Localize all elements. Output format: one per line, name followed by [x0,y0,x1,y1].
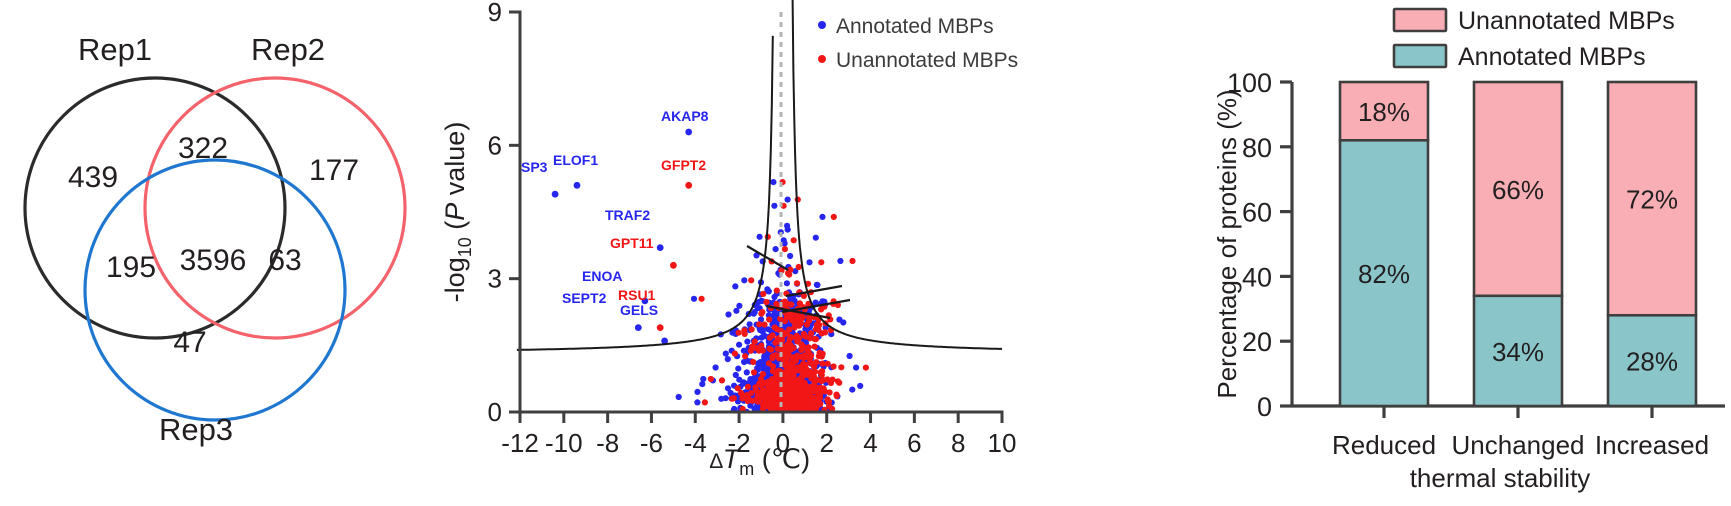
scatter-point-unannotated [798,347,804,353]
bar-legend-swatch-unannotated [1394,9,1446,31]
scatter-point-unannotated [849,258,855,264]
scatter-point-unannotated [742,353,748,359]
bar-value-unannotated-unchanged: 66% [1492,175,1544,205]
legend-label-unannotated: Unannotated MBPs [836,49,1018,72]
scatter-point-unannotated [786,327,792,333]
scatter-point-annotated [785,227,791,233]
bar-category-reduced: Reduced [1332,430,1436,460]
volcano-xtick--8: -8 [596,428,619,458]
scatter-point-unannotated [770,332,776,338]
bar-category-unchanged: Unchanged [1452,430,1585,460]
scatter-point-unannotated [799,374,805,380]
volcano-panel: 0369 -12-10-8-6-4-20246810 -log10 (P val… [430,0,1050,506]
venn-set-label-rep1: Rep1 [78,32,152,67]
scatter-point-unannotated [735,385,741,391]
bar-panel: Unannotated MBPs Annotated MBPs 02040608… [1100,0,1731,506]
volcano-xtick-10: 10 [988,428,1017,458]
scatter-point-unannotated [748,277,754,283]
scatter-point-annotated [735,366,741,372]
scatter-point-unannotated [784,367,790,373]
venn-svg: Rep1 Rep2 Rep3 439 322 177 3596 195 63 4… [0,0,430,506]
scatter-point-unannotated [827,389,833,395]
scatter-point-unannotated [801,331,807,337]
scatter-point-unannotated [751,369,757,375]
scatter-point-unannotated [796,264,802,270]
scatter-point-annotated [813,235,819,241]
bar-x-axis-title: thermal stability [1410,463,1591,493]
scatter-point-gpt11 [670,262,677,269]
scatter-point-annotated [837,258,843,264]
scatter-point-unannotated [802,368,808,374]
scatter-point-unannotated [819,361,825,367]
scatter-point-unannotated [749,326,755,332]
gene-label-akap8: AKAP8 [661,108,709,124]
scatter-point-annotated [725,356,731,362]
volcano-x-axis-title: ∆Tm (℃) [710,444,810,479]
volcano-y-ticks: 0369 [488,0,520,427]
scatter-point-unannotated [750,359,756,365]
scatter-point-annotated [741,277,747,283]
scatter-point-unannotated [766,360,772,366]
scatter-point-unannotated [761,393,767,399]
gene-label-gels: GELS [620,302,658,318]
scatter-point-sp3 [552,191,559,198]
scatter-point-unannotated [831,214,837,220]
gene-label-sp3: SP3 [521,159,548,175]
scatter-point-unannotated [811,403,817,409]
scatter-point-unannotated [756,321,762,327]
legend-marker-annotated [818,21,826,29]
gene-label-rsu1: RSU1 [618,287,656,303]
gene-label-gfpt2: GFPT2 [661,157,706,173]
bar-ytick-60: 60 [1242,198,1272,228]
bar-ytick-40: 40 [1242,262,1272,292]
scatter-point-annotated [691,296,697,302]
scatter-point-unannotated [761,322,767,328]
bar-value-annotated-unchanged: 34% [1492,337,1544,367]
scatter-point-unannotated [768,347,774,353]
volcano-xtick--4: -4 [684,428,707,458]
venn-count-rep1-only: 439 [68,161,118,194]
scatter-point-annotated [733,308,739,314]
scatter-point-unannotated [818,259,824,265]
venn-count-rep3-only: 47 [173,326,206,359]
bar-value-annotated-increased: 28% [1626,347,1678,377]
bar-series: 18%82%66%34%72%28% [1340,82,1696,406]
volcano-xtick--6: -6 [640,428,663,458]
volcano-ytick-6: 6 [488,130,502,160]
venn-panel: Rep1 Rep2 Rep3 439 322 177 3596 195 63 4… [0,0,430,506]
scatter-point-annotated [784,280,790,286]
scatter-point-unannotated [791,369,797,375]
scatter-point-gfpt2 [685,182,692,189]
scatter-point-unannotated [825,398,831,404]
scatter-point-unannotated [804,397,810,403]
scatter-point-unannotated [791,237,797,243]
scatter-point-traf2 [657,244,664,251]
volcano-ytick-0: 0 [488,397,502,427]
scatter-point-annotated [836,317,842,323]
bar-legend-label-unannotated: Unannotated MBPs [1458,7,1675,35]
scatter-point-unannotated [796,335,802,341]
scatter-point-unannotated [754,395,760,401]
venn-set-label-rep3: Rep3 [159,412,233,447]
scatter-point-unannotated [807,335,813,341]
volcano-xtick-4: 4 [863,428,877,458]
scatter-point-annotated [771,203,777,209]
scatter-point-unannotated [829,377,835,383]
scatter-point-annotated [744,339,750,345]
scatter-point-unannotated [761,388,767,394]
volcano-xtick-2: 2 [819,428,833,458]
scatter-point-unannotated [794,280,800,286]
scatter-point-unannotated [819,330,825,336]
scatter-point-unannotated [719,377,725,383]
scatter-point-unannotated [805,349,811,355]
scatter-point-unannotated [790,355,796,361]
scatter-point-unannotated [810,374,816,380]
scatter-point-unannotated [739,395,745,401]
scatter-point-unannotated [759,309,765,315]
bar-value-unannotated-reduced: 18% [1358,97,1410,127]
scatter-point-unannotated [708,376,714,382]
scatter-point-unannotated [838,364,844,370]
scatter-point-unannotated [773,301,779,307]
bar-svg: Unannotated MBPs Annotated MBPs 02040608… [1100,0,1731,506]
scatter-point-annotated [723,351,729,357]
scatter-point-annotated [736,342,742,348]
scatter-point-annotated [752,309,758,315]
scatter-point-annotated [806,259,812,265]
bar-ytick-0: 0 [1257,392,1272,422]
scatter-point-unannotated [736,330,742,336]
bar-value-annotated-reduced: 82% [1358,259,1410,289]
gene-label-elof1: ELOF1 [553,152,598,168]
leader-line-rsu1 [786,286,842,296]
scatter-point-unannotated [755,389,761,395]
figure-root: Rep1 Rep2 Rep3 439 322 177 3596 195 63 4… [0,0,1731,506]
scatter-point-annotated [694,399,700,405]
scatter-point-unannotated [782,246,788,252]
scatter-point-unannotated [814,322,820,328]
scatter-point-unannotated [774,288,780,294]
scatter-point-elof1 [574,182,581,189]
scatter-point-annotated [725,385,731,391]
scatter-point-annotated [773,246,779,252]
scatter-point-unannotated [788,301,794,307]
scatter-point-unannotated [797,300,803,306]
scatter-point-annotated [694,389,700,395]
volcano-legend: Annotated MBPs Unannotated MBPs [818,15,1018,72]
scatter-point-unannotated [699,296,705,302]
venn-count-rep1-rep2: 322 [178,132,228,165]
scatter-point-unannotated [833,392,839,398]
scatter-point-unannotated [763,299,769,305]
venn-count-rep1-rep2-rep3: 3596 [180,244,247,277]
scatter-point-unannotated [789,390,795,396]
scatter-point-unannotated [818,378,824,384]
scatter-point-unannotated [819,368,825,374]
volcano-y-axis-title: -log10 (P value) [440,122,475,303]
scatter-point-annotated [814,282,820,288]
bar-legend-swatch-annotated [1394,45,1446,67]
scatter-point-unannotated [786,272,792,278]
venn-circle-rep1 [25,78,285,338]
scatter-point-unannotated [817,350,823,356]
bar-ytick-80: 80 [1242,133,1272,163]
scatter-point-annotated [857,383,863,389]
scatter-point-rsu1 [657,324,664,331]
scatter-point-unannotated [702,399,708,405]
scatter-point-annotated [732,283,738,289]
scatter-point-unannotated [772,382,778,388]
scatter-point-unannotated [732,351,738,357]
scatter-point-unannotated [752,339,758,345]
scatter-point-annotated [676,394,682,400]
scatter-point-unannotated [804,322,810,328]
venn-count-rep2-rep3: 63 [268,244,301,277]
scatter-point-unannotated [807,391,813,397]
scatter-point-unannotated [863,365,869,371]
volcano-ytick-9: 9 [488,0,502,27]
scatter-point-unannotated [745,384,751,390]
volcano-svg: 0369 -12-10-8-6-4-20246810 -log10 (P val… [430,0,1050,506]
venn-circle-rep3 [85,160,345,420]
svg-text:∆Tm (℃): ∆Tm (℃) [710,444,810,479]
scatter-point-annotated [733,372,739,378]
volcano-ytick-3: 3 [488,264,502,294]
venn-circle-rep2 [145,78,405,338]
scatter-point-annotated [847,353,853,359]
scatter-point-unannotated [729,396,735,402]
venn-set-label-rep2: Rep2 [251,32,325,67]
scatter-point-unannotated [811,362,817,368]
scatter-point-unannotated [812,344,818,350]
scatter-point-annotated [744,369,750,375]
scatter-point-unannotated [756,381,762,387]
scatter-point-unannotated [748,348,754,354]
scatter-point-akap8 [685,129,692,136]
legend-marker-unannotated [818,55,826,63]
gene-label-sept2: SEPT2 [562,290,607,306]
scatter-point-annotated [770,179,776,185]
scatter-point-unannotated [770,368,776,374]
scatter-point-unannotated [742,331,748,337]
bar-category-increased: Increased [1595,430,1709,460]
scatter-point-annotated [787,253,793,259]
svg-text:Percentage of proteins (%): Percentage of proteins (%) [1212,89,1242,398]
scatter-point-annotated [713,364,719,370]
scatter-point-unannotated [835,378,841,384]
scatter-point-unannotated [767,397,773,403]
scatter-point-unannotated [756,348,762,354]
scatter-point-unannotated [766,316,772,322]
venn-count-rep2-only: 177 [309,154,359,187]
scatter-point-annotated [785,197,791,203]
scatter-point-annotated [757,234,763,240]
volcano-xtick-6: 6 [907,428,921,458]
bar-legend: Unannotated MBPs Annotated MBPs [1394,7,1675,71]
bar-value-unannotated-increased: 72% [1626,185,1678,215]
scatter-point-unannotated [831,363,837,369]
bar-y-axis-title: Percentage of proteins (%) [1212,89,1242,398]
scatter-point-unannotated [786,405,792,411]
scatter-point-annotated [700,376,706,382]
venn-count-rep1-rep3: 195 [106,251,156,284]
scatter-point-annotated [718,396,724,402]
scatter-point-unannotated [813,336,819,342]
gene-label-traf2: TRAF2 [605,207,650,223]
scatter-point-annotated [853,365,859,371]
gene-label-gpt11: GPT11 [610,235,654,251]
scatter-point-unannotated [796,389,802,395]
scatter-point-unannotated [774,326,780,332]
legend-label-annotated: Annotated MBPs [836,15,994,38]
scatter-point-unannotated [817,390,823,396]
bar-ytick-20: 20 [1242,327,1272,357]
gene-label-enoa: ENOA [582,268,622,284]
bar-legend-label-annotated: Annotated MBPs [1458,43,1646,71]
bar-x-ticks: ReducedUnchangedIncreased [1332,406,1709,460]
scatter-point-unannotated [816,385,822,391]
scatter-point-unannotated [786,341,792,347]
scatter-point-annotated [819,214,825,220]
scatter-point-unannotated [760,291,766,297]
scatter-point-sept2 [635,324,642,331]
scatter-point-unannotated [798,320,804,326]
svg-text:-log10 (P value): -log10 (P value) [440,122,475,303]
volcano-xtick--10: -10 [545,428,583,458]
scatter-point-unannotated [786,347,792,353]
scatter-point-annotated [849,387,855,393]
scatter-point-annotated [725,311,731,317]
volcano-xtick--12: -12 [501,428,539,458]
scatter-point-unannotated [789,397,795,403]
volcano-xtick-8: 8 [951,428,965,458]
scatter-point-annotated [741,359,747,365]
